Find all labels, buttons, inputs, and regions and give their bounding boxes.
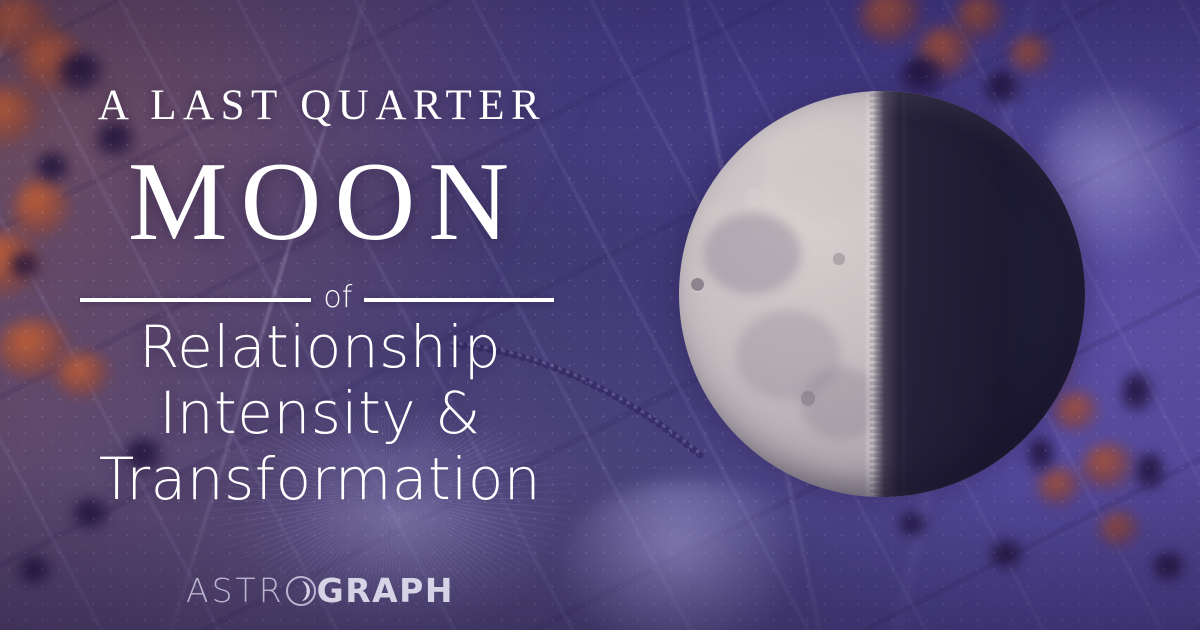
headline-block: A LAST QUARTER MOON of Relationship Inte…: [0, 0, 640, 630]
subtitle-line-3: Transformation: [0, 450, 640, 509]
moon-limb-shading: [679, 91, 1085, 497]
kicker-text: A LAST QUARTER: [0, 84, 640, 127]
astrograph-logo[interactable]: ASTR GRAPH: [0, 574, 640, 607]
page-title: MOON: [0, 146, 640, 258]
divider-rule-left: [80, 298, 311, 302]
astrograph-moon-banner: A LAST QUARTER MOON of Relationship Inte…: [0, 0, 1200, 630]
logo-text-light: ASTR: [186, 574, 285, 607]
divider-label: of: [323, 283, 352, 313]
last-quarter-moon-graphic: [679, 91, 1085, 497]
divider: of: [80, 289, 554, 311]
moon-disc: [679, 91, 1085, 497]
subtitle-line-2: Intensity &: [0, 384, 640, 443]
logo-moon-o-icon: [286, 576, 316, 606]
crescent-moon-icon: [293, 581, 310, 601]
subtitle-line-1: Relationship: [0, 318, 640, 377]
divider-rule-right: [364, 298, 554, 302]
logo-text-bold: GRAPH: [317, 574, 454, 607]
